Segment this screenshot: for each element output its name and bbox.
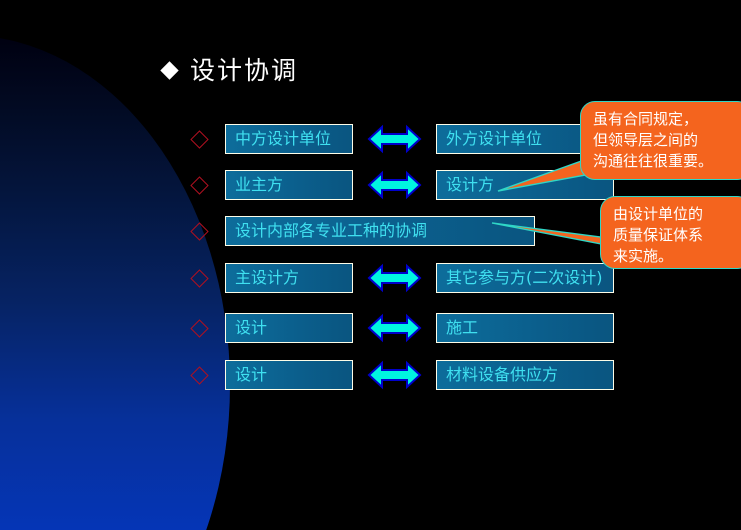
- diamond-outline-icon: [190, 319, 208, 337]
- diamond-outline-icon: [190, 366, 208, 384]
- row-4: 主设计方 其它参与方(二次设计): [193, 263, 614, 293]
- box-left-6[interactable]: 设计: [225, 360, 353, 390]
- box-left-4[interactable]: 主设计方: [225, 263, 353, 293]
- row-2: 业主方 设计方: [193, 170, 614, 200]
- box-left-1[interactable]: 中方设计单位: [225, 124, 353, 154]
- box-right-4[interactable]: 其它参与方(二次设计): [436, 263, 614, 293]
- callout-1-line-3: 沟通往往很重要。: [593, 151, 740, 172]
- diamond-filled-icon: [160, 61, 178, 79]
- page-title-text: 设计协调: [190, 58, 298, 83]
- double-arrow-icon: [367, 170, 422, 200]
- box-right-5[interactable]: 施工: [436, 313, 614, 343]
- row-5: 设计 施工: [193, 313, 614, 343]
- page-title: 设计协调: [163, 58, 298, 83]
- callout-bubble-1[interactable]: 虽有合同规定， 但领导层之间的 沟通往往很重要。: [580, 101, 741, 180]
- callout-2-line-3: 来实施。: [613, 246, 740, 267]
- presentation-slide: 设计协调 中方设计单位 外方设计单位 业主方 设计方 设计内部各专业工种的协调 …: [0, 0, 741, 530]
- box-wide-3[interactable]: 设计内部各专业工种的协调: [225, 216, 535, 246]
- double-arrow-icon: [367, 124, 422, 154]
- row-1: 中方设计单位 外方设计单位: [193, 124, 614, 154]
- diamond-outline-icon: [190, 130, 208, 148]
- callout-2-line-2: 质量保证体系: [613, 225, 740, 246]
- box-left-5[interactable]: 设计: [225, 313, 353, 343]
- callout-1-line-2: 但领导层之间的: [593, 130, 740, 151]
- double-arrow-icon: [367, 313, 422, 343]
- box-left-2[interactable]: 业主方: [225, 170, 353, 200]
- callout-bubble-2[interactable]: 由设计单位的 质量保证体系 来实施。: [600, 196, 741, 269]
- diamond-outline-icon: [190, 222, 208, 240]
- diamond-outline-icon: [190, 269, 208, 287]
- callout-2-line-1: 由设计单位的: [613, 204, 740, 225]
- row-6: 设计 材料设备供应方: [193, 360, 614, 390]
- double-arrow-icon: [367, 263, 422, 293]
- double-arrow-icon: [367, 360, 422, 390]
- callout-1-line-1: 虽有合同规定，: [593, 109, 740, 130]
- row-3: 设计内部各专业工种的协调: [193, 216, 535, 246]
- diamond-outline-icon: [190, 176, 208, 194]
- box-right-6[interactable]: 材料设备供应方: [436, 360, 614, 390]
